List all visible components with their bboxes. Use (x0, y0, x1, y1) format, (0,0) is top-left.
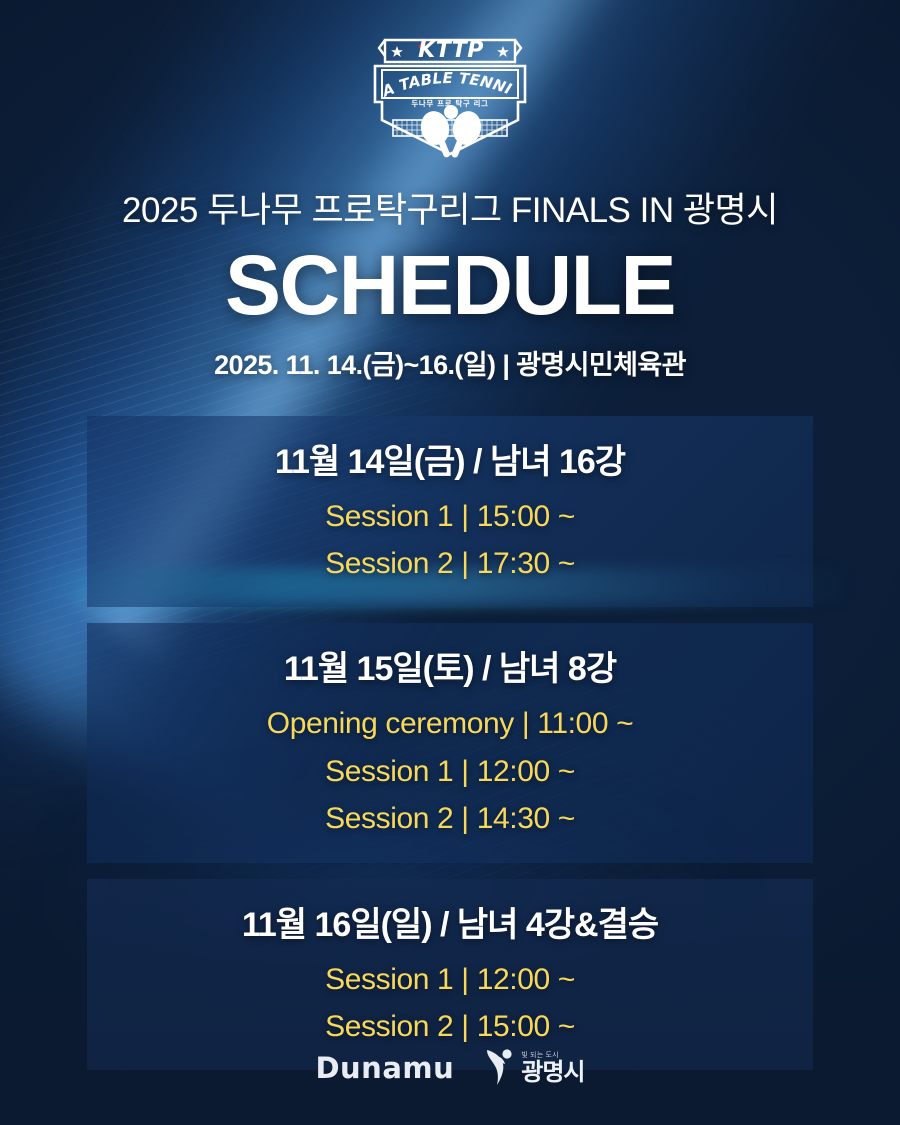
star-right-icon (497, 46, 509, 57)
session-label: Session 1 (325, 755, 453, 788)
schedule-row: Session 1|15:00 ~ (87, 493, 813, 540)
session-time: 12:00 ~ (477, 963, 575, 996)
schedule-row: Opening ceremony|11:00 ~ (87, 700, 813, 747)
row-separator: | (453, 547, 476, 580)
session-time: 15:00 ~ (477, 1010, 575, 1043)
session-label: Opening ceremony (267, 707, 514, 740)
kttp-logo: KTTP KOREA TABLE TENNIS PRO 두나무 프로 탁구 리그 (0, 0, 900, 166)
row-separator: | (453, 755, 476, 788)
dunamu-wordmark: Dunamu (315, 1051, 454, 1085)
schedule-card: 11월 15일(토) / 남녀 8강 Opening ceremony|11:0… (87, 623, 813, 862)
footer-logos: Dunamu 빛 되는 도시 광명시 (0, 1047, 900, 1089)
schedule-card-title: 11월 14일(금) / 남녀 16강 (87, 434, 813, 483)
event-title: 2025 두나무 프로탁구리그 FINALS IN 광명시 (0, 182, 900, 233)
row-separator: | (453, 963, 476, 996)
schedule-card-title: 11월 15일(토) / 남녀 8강 (87, 641, 813, 690)
schedule-poster: KTTP KOREA TABLE TENNIS PRO 두나무 프로 탁구 리그 (0, 0, 900, 1125)
svg-text:KTTP: KTTP (418, 38, 484, 63)
page-title: SCHEDULE (0, 243, 900, 329)
gwangmyeong-city-mark-icon (484, 1047, 514, 1089)
session-label: Session 1 (325, 963, 453, 996)
date-venue-line: 2025. 11. 14.(금)~16.(일) | 광명시민체육관 (0, 343, 900, 382)
row-separator: | (453, 1010, 476, 1043)
kttp-logo-icon: KTTP KOREA TABLE TENNIS PRO 두나무 프로 탁구 리그 (361, 26, 539, 166)
schedule-row: Session 1|12:00 ~ (87, 956, 813, 1003)
gwangmyeong-name: 광명시 (521, 1061, 584, 1085)
session-time: 12:00 ~ (477, 755, 575, 788)
schedule-row: Session 1|12:00 ~ (87, 748, 813, 795)
session-time: 11:00 ~ (537, 707, 633, 740)
session-time: 17:30 ~ (477, 547, 575, 580)
row-separator: | (514, 707, 537, 740)
gwangmyeong-text-block: 빛 되는 도시 광명시 (521, 1052, 584, 1085)
schedule-row: Session 2|17:30 ~ (87, 540, 813, 587)
session-label: Session 2 (325, 547, 453, 580)
gwangmyeong-tagline: 빛 되는 도시 (521, 1052, 584, 1059)
ping-pong-ball-icon (444, 105, 458, 119)
row-separator: | (453, 500, 476, 533)
session-time: 15:00 ~ (477, 500, 575, 533)
session-label: Session 2 (325, 802, 453, 835)
schedule-row: Session 2|14:30 ~ (87, 795, 813, 842)
gwangmyeong-city-logo: 빛 되는 도시 광명시 (484, 1047, 584, 1089)
session-time: 14:30 ~ (477, 802, 575, 835)
schedule-card-list: 11월 14일(금) / 남녀 16강 Session 1|15:00 ~ Se… (0, 416, 900, 1071)
schedule-card: 11월 16일(일) / 남녀 4강&결승 Session 1|12:00 ~ … (87, 879, 813, 1071)
schedule-card: 11월 14일(금) / 남녀 16강 Session 1|15:00 ~ Se… (87, 416, 813, 608)
session-label: Session 1 (325, 500, 453, 533)
row-separator: | (453, 802, 476, 835)
session-label: Session 2 (325, 1010, 453, 1043)
schedule-row: Session 2|15:00 ~ (87, 1003, 813, 1050)
schedule-card-title: 11월 16일(일) / 남녀 4강&결승 (87, 897, 813, 946)
star-left-icon (391, 46, 403, 57)
poster-content: KTTP KOREA TABLE TENNIS PRO 두나무 프로 탁구 리그 (0, 0, 900, 1070)
